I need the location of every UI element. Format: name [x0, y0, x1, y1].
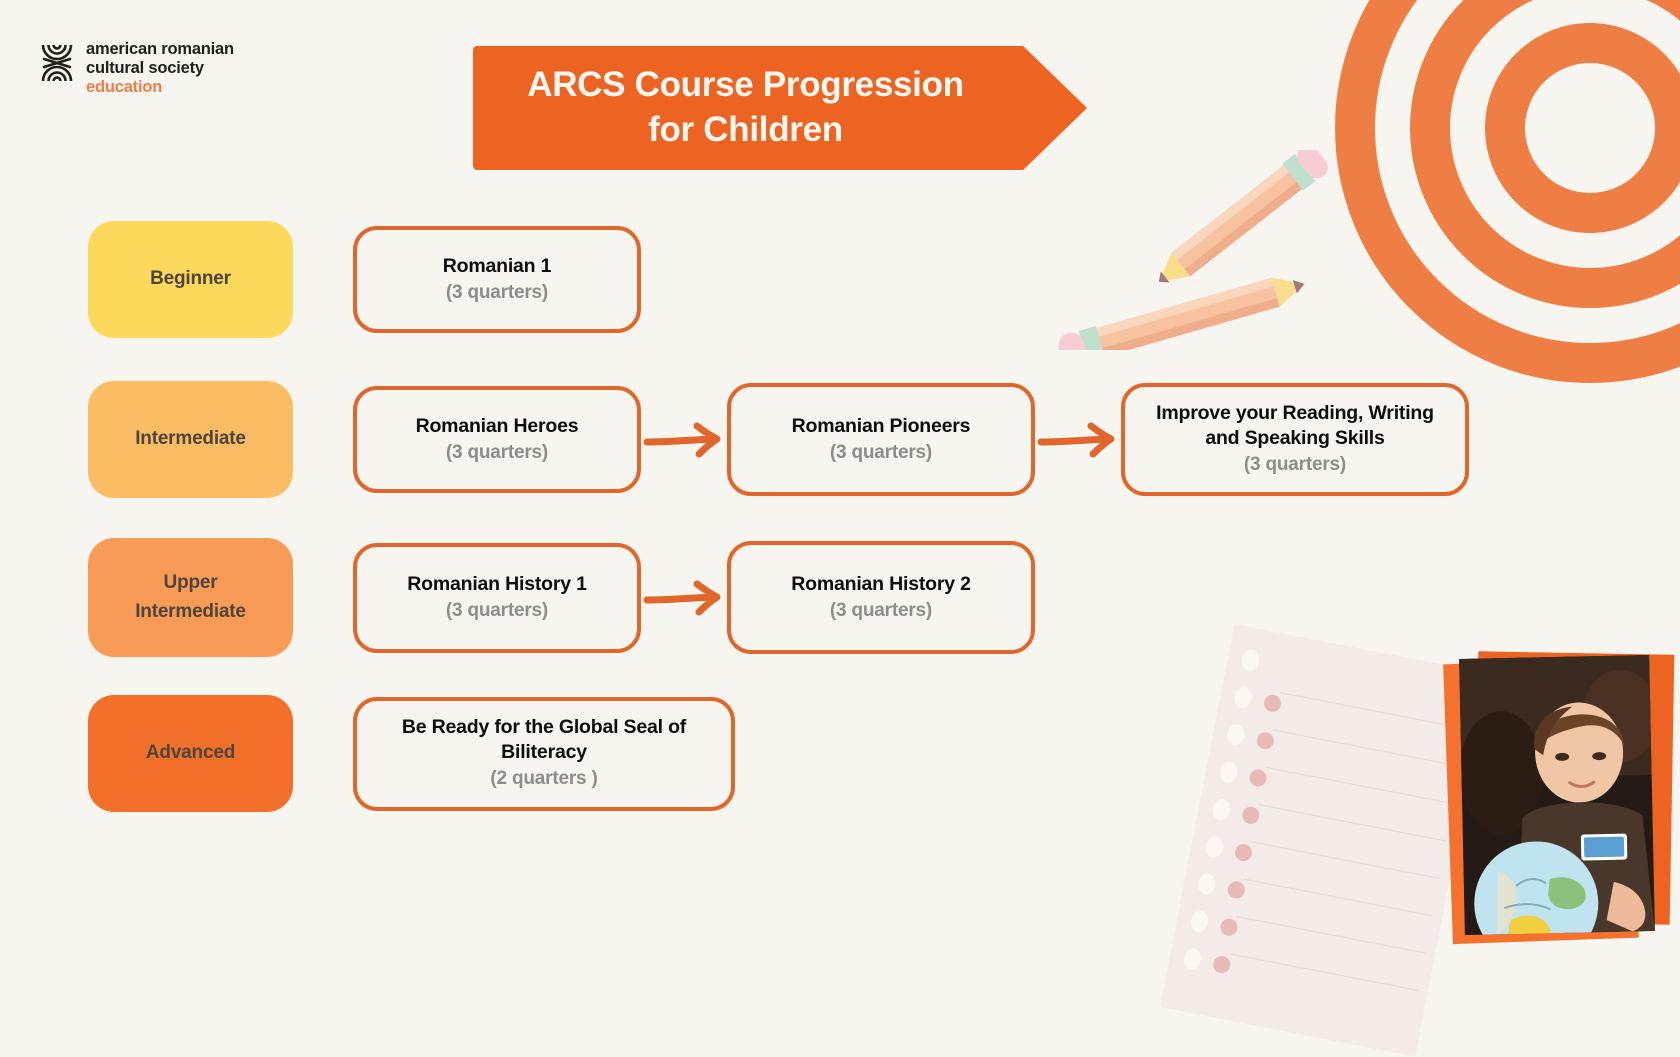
course-title: Improve your Reading, Writing and Speaki…	[1141, 401, 1449, 451]
level-pill-beginner[interactable]: Beginner	[88, 221, 293, 338]
level-row-upper-intermediate: Upper Intermediate Romanian History 1 (3…	[88, 538, 1035, 657]
course-title: Romanian History 2	[791, 572, 971, 597]
course-duration: (3 quarters)	[830, 599, 932, 624]
course-card-romanian-pioneers[interactable]: Romanian Pioneers (3 quarters)	[727, 383, 1035, 496]
course-title: Romanian 1	[443, 254, 552, 279]
course-title: Romanian Heroes	[416, 414, 579, 439]
level-pill-intermediate[interactable]: Intermediate	[88, 381, 293, 498]
level-label: Advanced	[146, 739, 235, 768]
arrow-right-icon	[1035, 420, 1121, 460]
level-pill-advanced[interactable]: Advanced	[88, 695, 293, 812]
level-label: Upper Intermediate	[116, 569, 266, 626]
level-row-intermediate: Intermediate Romanian Heroes (3 quarters…	[88, 381, 1469, 498]
level-label: Beginner	[150, 265, 231, 294]
level-label: Intermediate	[135, 425, 246, 454]
level-row-advanced: Advanced Be Ready for the Global Seal of…	[88, 695, 735, 812]
course-card-romanian-history-1[interactable]: Romanian History 1 (3 quarters)	[353, 543, 641, 653]
level-pill-upper-intermediate[interactable]: Upper Intermediate	[88, 538, 293, 657]
course-title: Romanian History 1	[407, 572, 587, 597]
arrow-right-icon	[641, 420, 727, 460]
course-card-global-seal-biliteracy[interactable]: Be Ready for the Global Seal of Bilitera…	[353, 697, 735, 811]
course-duration: (3 quarters)	[446, 441, 548, 466]
level-row-beginner: Beginner Romanian 1 (3 quarters)	[88, 221, 641, 338]
course-duration: (3 quarters)	[446, 281, 548, 306]
course-card-romanian-history-2[interactable]: Romanian History 2 (3 quarters)	[727, 541, 1035, 654]
course-duration: (3 quarters)	[830, 441, 932, 466]
arrow-right-icon	[641, 578, 727, 618]
course-title: Be Ready for the Global Seal of Bilitera…	[374, 715, 714, 765]
course-card-improve-skills[interactable]: Improve your Reading, Writing and Speaki…	[1121, 383, 1469, 496]
course-duration: (3 quarters)	[1244, 453, 1346, 478]
course-progression-grid: Beginner Romanian 1 (3 quarters) Interme…	[0, 0, 1680, 945]
course-card-romanian-1[interactable]: Romanian 1 (3 quarters)	[353, 226, 641, 333]
course-card-romanian-heroes[interactable]: Romanian Heroes (3 quarters)	[353, 386, 641, 493]
course-duration: (2 quarters )	[490, 767, 597, 792]
course-title: Romanian Pioneers	[792, 414, 971, 439]
course-duration: (3 quarters)	[446, 599, 548, 624]
